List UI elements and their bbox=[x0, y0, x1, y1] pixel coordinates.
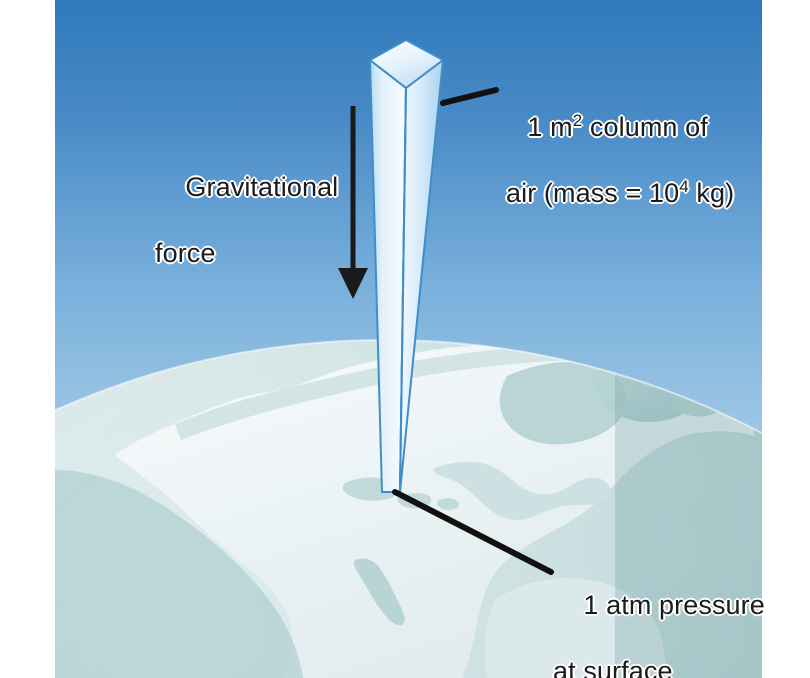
pressure-label-line1: 1 atm pressure bbox=[583, 590, 764, 620]
atmospheric-pressure-figure: 1 m2 column of air (mass = 104 kg) Gravi… bbox=[0, 0, 810, 678]
gravitational-force-label: Gravitational force bbox=[155, 138, 338, 336]
pressure-at-surface-label: 1 atm pressure at surface bbox=[553, 556, 765, 678]
square-exponent: 2 bbox=[573, 111, 583, 130]
column-label-line2: air (mass = 104 kg) bbox=[497, 177, 734, 210]
gravity-label-line1: Gravitational bbox=[185, 172, 338, 202]
column-of-air-label: 1 m2 column of air (mass = 104 kg) bbox=[497, 78, 734, 276]
pressure-label-line2: at surface bbox=[553, 655, 765, 678]
gravity-label-line2: force bbox=[155, 237, 338, 270]
column-label-line1: 1 m2 column of bbox=[527, 112, 707, 142]
mass-exponent: 4 bbox=[679, 177, 689, 196]
